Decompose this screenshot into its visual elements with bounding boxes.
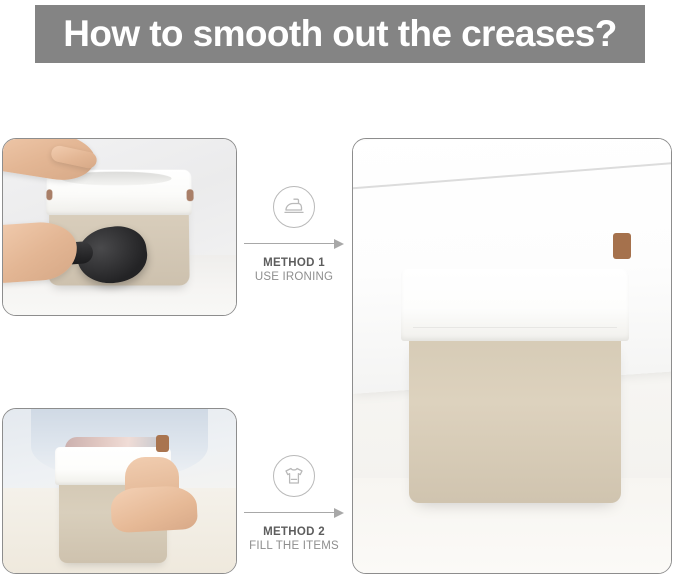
filling-photo-panel — [2, 408, 237, 574]
ironing-photo-panel — [2, 138, 237, 316]
infographic-root: How to smooth out the creases? — [0, 0, 679, 578]
basket-seam — [413, 327, 617, 328]
ironing-photo — [3, 139, 236, 315]
tshirt-icon — [273, 455, 315, 497]
arrow-head — [334, 508, 344, 518]
arrow-right-icon — [242, 505, 346, 521]
method-1-subtitle: USE IRONING — [242, 271, 346, 283]
arrow-head — [334, 239, 344, 249]
page-title: How to smooth out the creases? — [63, 13, 617, 55]
arrow-shaft — [244, 243, 336, 244]
basket-white-cuff — [401, 269, 629, 341]
arrow-right-icon — [242, 236, 346, 252]
method-1-title: METHOD 1 — [242, 257, 346, 269]
leather-tag — [613, 233, 631, 259]
iron-icon — [273, 186, 315, 228]
method-2-block: METHOD 2 FILL THE ITEMS — [242, 455, 346, 552]
basket-leather-handle-right — [187, 189, 194, 201]
storage-basket — [59, 471, 167, 563]
method-2-title: METHOD 2 — [242, 526, 346, 538]
storage-basket — [409, 335, 621, 503]
basket-leather-handle-left — [46, 189, 52, 200]
arrow-shaft — [244, 512, 336, 513]
result-photo — [353, 139, 671, 573]
method-1-block: METHOD 1 USE IRONING — [242, 186, 346, 283]
hands — [110, 485, 198, 533]
result-photo-panel — [352, 138, 672, 574]
leather-tag — [156, 435, 169, 452]
title-banner: How to smooth out the creases? — [35, 5, 645, 63]
filling-photo — [3, 409, 236, 573]
method-2-subtitle: FILL THE ITEMS — [242, 540, 346, 552]
